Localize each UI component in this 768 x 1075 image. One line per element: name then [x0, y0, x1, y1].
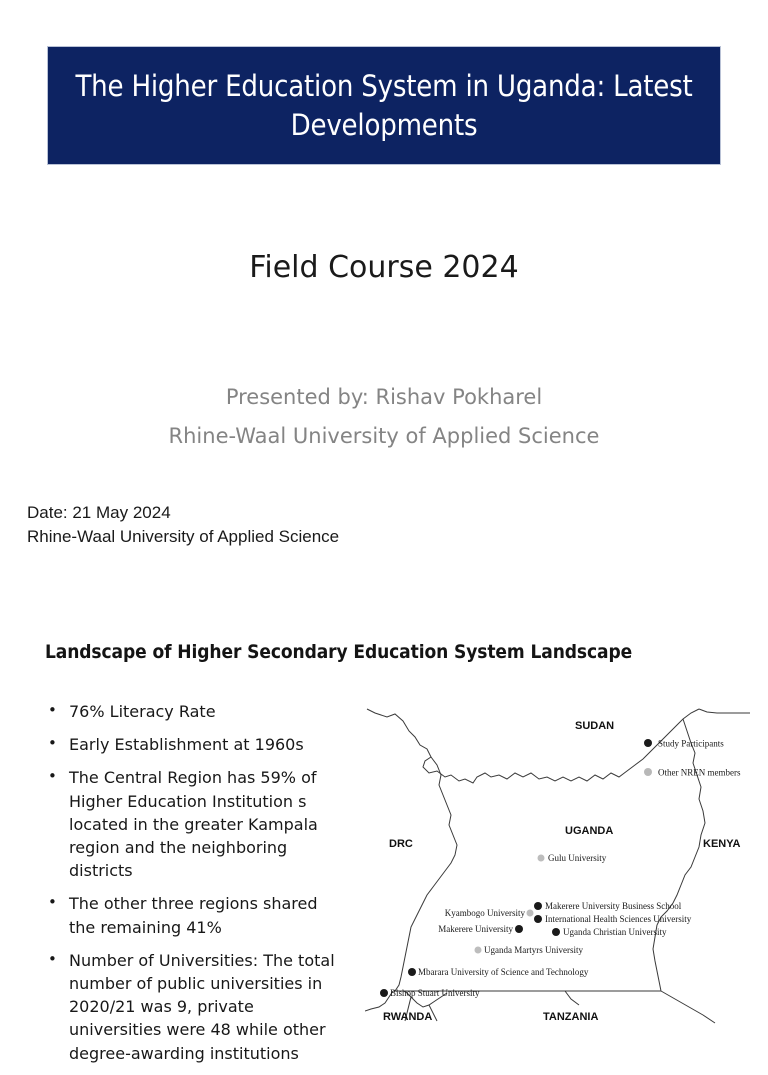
date-line: Date: 21 May 2024 [27, 501, 339, 525]
marker-label-international-health-sciences-university: International Health Sciences University [545, 914, 692, 924]
study-participant-dot-icon [644, 739, 652, 747]
map-university-markers: Gulu University Makerere University Busi… [380, 853, 692, 998]
other-nren-dot-icon [644, 768, 652, 776]
country-label-uganda: UGANDA [565, 825, 613, 837]
presenter-institution: Rhine-Waal University of Applied Science [0, 417, 768, 456]
slide-title-banner: The Higher Education System in Uganda: L… [47, 46, 721, 165]
uganda-universities-map: SUDAN DRC UGANDA KENYA RWANDA TANZANIA S… [365, 703, 750, 1024]
list-item: The Central Region has 59% of Higher Edu… [44, 766, 344, 882]
list-item: Early Establishment at 1960s [44, 733, 344, 756]
section-heading: Landscape of Higher Secondary Education … [45, 641, 632, 663]
marker-dot-uganda-christian-university [552, 928, 560, 936]
list-item: Number of Universities: The total number… [44, 949, 344, 1065]
country-label-tanzania: TANZANIA [543, 1011, 598, 1023]
affiliation-line: Rhine-Waal University of Applied Science [27, 525, 339, 549]
marker-label-makerere-university-business-school: Makerere University Business School [545, 901, 682, 911]
marker-label-bishop-stuart-university: Bishop Stuart University [390, 988, 480, 998]
country-label-drc: DRC [389, 838, 413, 850]
list-item: The other three regions shared the remai… [44, 892, 344, 938]
marker-dot-uganda-martyrs-university [475, 947, 482, 954]
slide-meta-block: Date: 21 May 2024 Rhine-Waal University … [27, 501, 339, 549]
page-title: The Higher Education System in Uganda: L… [48, 67, 720, 144]
marker-dot-makerere-university-business-school [534, 902, 542, 910]
marker-label-makerere-university: Makerere University [438, 924, 513, 934]
country-label-rwanda: RWANDA [383, 1011, 432, 1023]
marker-label-mbarara-university-of-science-and-technology: Mbarara University of Science and Techno… [418, 967, 589, 977]
marker-label-kyambogo-university: Kyambogo University [445, 908, 526, 918]
marker-dot-mbarara-university-of-science-and-technology [408, 968, 416, 976]
marker-dot-makerere-university [515, 925, 523, 933]
country-label-kenya: KENYA [703, 838, 741, 850]
legend-label-study-participants: Study Participants [658, 739, 724, 749]
country-label-sudan: SUDAN [575, 720, 614, 732]
marker-label-gulu-university: Gulu University [548, 853, 607, 863]
list-item: 76% Literacy Rate [44, 700, 344, 723]
marker-dot-kyambogo-university [527, 910, 534, 917]
map-country-labels: SUDAN DRC UGANDA KENYA RWANDA TANZANIA [383, 720, 741, 1023]
legend-label-other-nren: Other NREN members [658, 768, 741, 778]
map-legend: Study Participants Other NREN members [644, 739, 741, 778]
presenter-block: Presented by: Rishav Pokharel Rhine-Waal… [0, 378, 768, 456]
slide-subtitle: Field Course 2024 [0, 250, 768, 285]
marker-dot-bishop-stuart-university [380, 989, 388, 997]
presenter-name: Presented by: Rishav Pokharel [0, 378, 768, 417]
marker-dot-international-health-sciences-university [534, 915, 542, 923]
marker-label-uganda-christian-university: Uganda Christian University [563, 927, 667, 937]
marker-dot-gulu-university [538, 855, 545, 862]
landscape-bullet-list: 76% Literacy Rate Early Establishment at… [44, 700, 344, 1075]
marker-label-uganda-martyrs-university: Uganda Martyrs University [484, 945, 583, 955]
